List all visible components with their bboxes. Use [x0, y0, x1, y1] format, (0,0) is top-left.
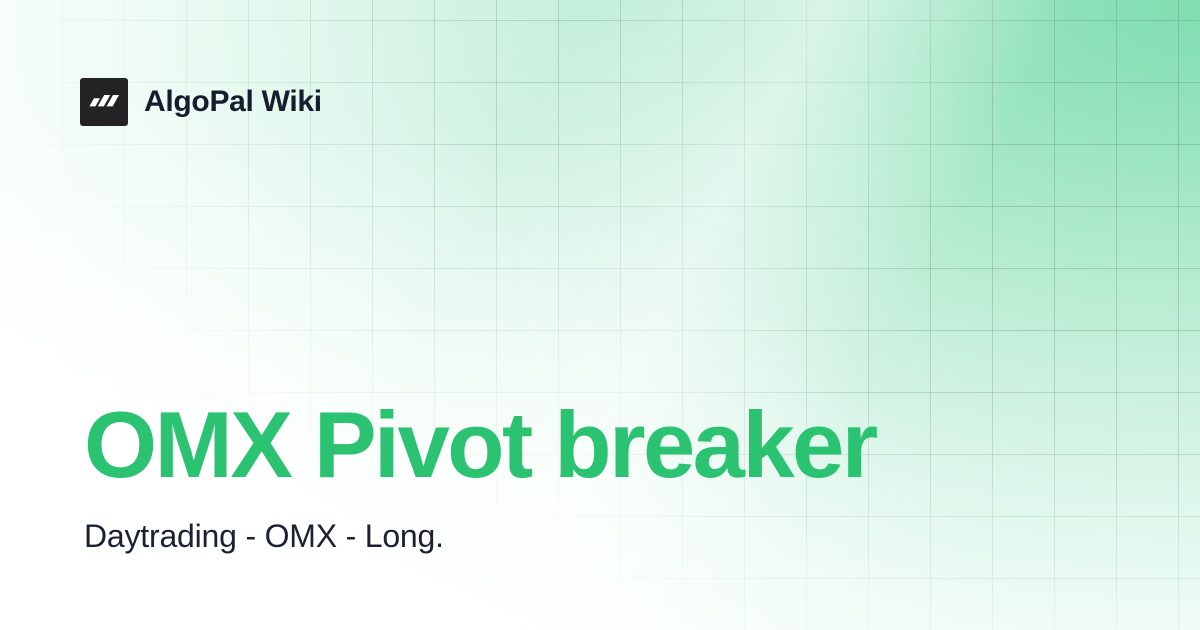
diagonal-bars-logo-icon	[80, 78, 128, 126]
page-title: OMX Pivot breaker	[84, 396, 876, 494]
brand-name: AlgoPal Wiki	[144, 87, 322, 117]
brand-lockup[interactable]: AlgoPal Wiki	[80, 78, 322, 126]
hero-text-block: OMX Pivot breaker Daytrading - OMX - Lon…	[84, 396, 876, 556]
page-subtitle: Daytrading - OMX - Long.	[84, 516, 876, 556]
card-content: AlgoPal Wiki OMX Pivot breaker Daytradin…	[0, 0, 1200, 630]
og-card: AlgoPal Wiki OMX Pivot breaker Daytradin…	[0, 0, 1200, 630]
